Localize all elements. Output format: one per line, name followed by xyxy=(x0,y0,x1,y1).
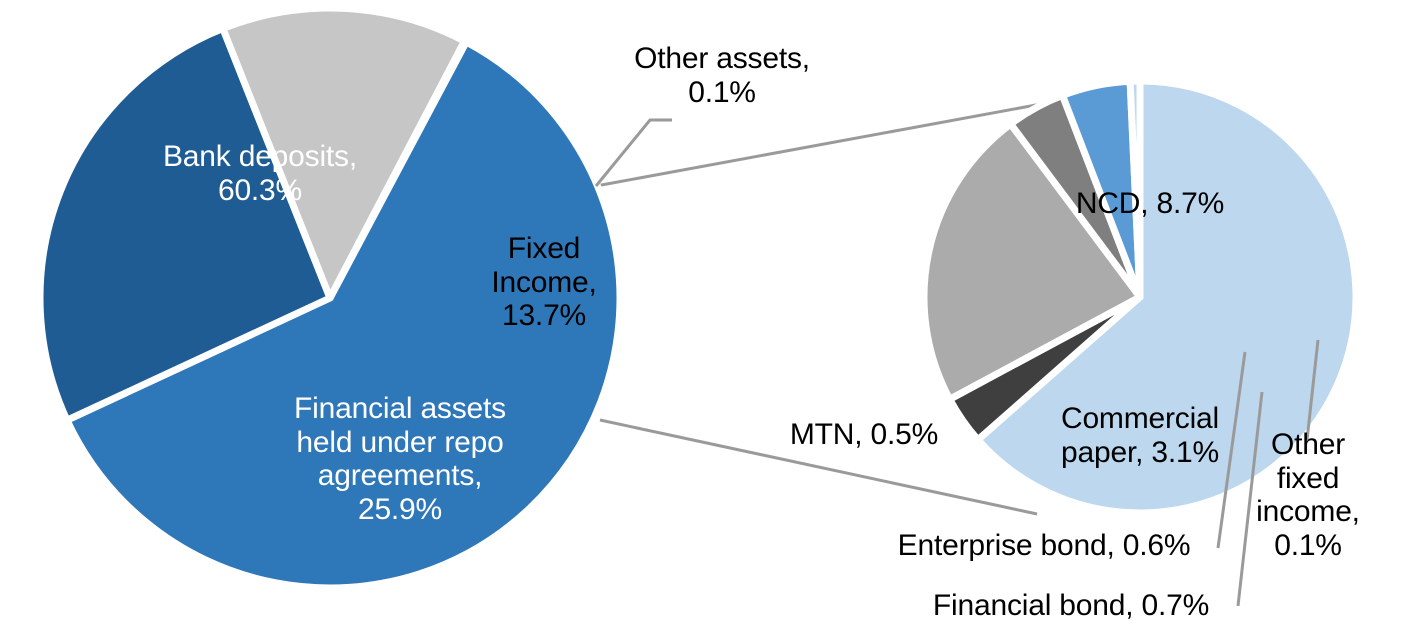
label-fixed-income: Fixed Income, 13.7% xyxy=(491,232,596,333)
pie-of-pie-chart: Bank deposits, 60.3% Financial assets he… xyxy=(0,0,1404,644)
label-financial-bond: Financial bond, 0.7% xyxy=(933,589,1209,623)
label-mtn: MTN, 0.5% xyxy=(790,418,938,452)
label-ncd: NCD, 8.7% xyxy=(1076,187,1224,221)
leader-other-assets xyxy=(596,120,672,186)
label-commercial-paper: Commercial paper, 3.1% xyxy=(1061,402,1219,469)
label-repo-assets: Financial assets held under repo agreeme… xyxy=(294,392,506,526)
label-other-fixed-income: Other fixed income, 0.1% xyxy=(1256,428,1360,562)
label-other-assets: Other assets, 0.1% xyxy=(634,42,810,109)
label-bank-deposits: Bank deposits, 60.3% xyxy=(163,140,357,207)
label-enterprise-bond: Enterprise bond, 0.6% xyxy=(898,529,1191,563)
